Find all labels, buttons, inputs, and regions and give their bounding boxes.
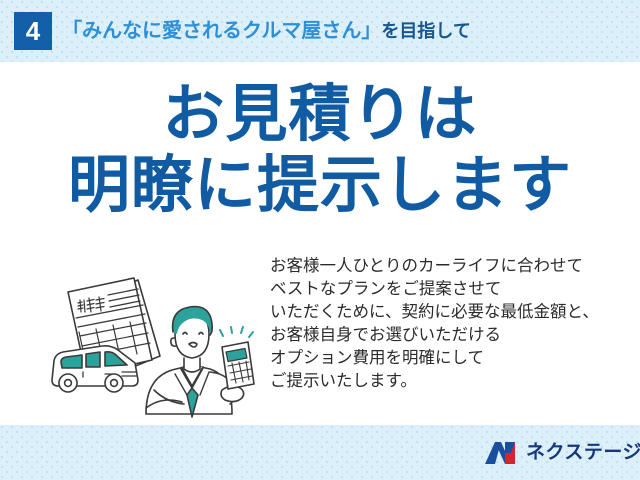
body-copy-line: いただくために、契約に必要な最低金額と、	[270, 301, 635, 324]
header-step-badge: 4	[14, 12, 52, 50]
header-title-tail: を目指して	[381, 21, 470, 41]
headline-line-1: お見積りは	[0, 83, 640, 146]
brand-logo: ネクステージ	[484, 440, 640, 466]
header-title: 「みんなに愛されるクルマ屋さん」を目指して	[62, 18, 471, 44]
headline: お見積りは 明瞭に提示します	[0, 83, 640, 217]
body-copy-line: お客様一人ひとりのカーライフに合わせて	[270, 255, 635, 278]
promo-banner: 4 「みんなに愛されるクルマ屋さん」を目指して お見積りは 明瞭に提示します お…	[0, 0, 640, 480]
body-copy-line: ご提示いたします。	[270, 370, 635, 393]
sparkle-icon	[220, 327, 253, 337]
header-title-quoted: 「みんなに愛されるクルマ屋さん」	[62, 20, 381, 42]
body-copy-line: ベストなプランをご提案させて	[270, 278, 635, 301]
body-copy: お客様一人ひとりのカーライフに合わせて ベストなプランをご提案させて いただくた…	[270, 255, 635, 393]
illustration	[42, 262, 267, 420]
header-step-number: 4	[26, 18, 40, 44]
headline-line-2: 明瞭に提示します	[0, 154, 640, 217]
nextage-n-icon	[484, 441, 518, 465]
body-copy-line: オプション費用を明確にして	[270, 347, 635, 370]
calculator-icon	[222, 342, 254, 389]
body-copy-line: お客様自身でお選びいただける	[270, 324, 635, 347]
brand-logo-text: ネクステージ	[526, 441, 640, 465]
